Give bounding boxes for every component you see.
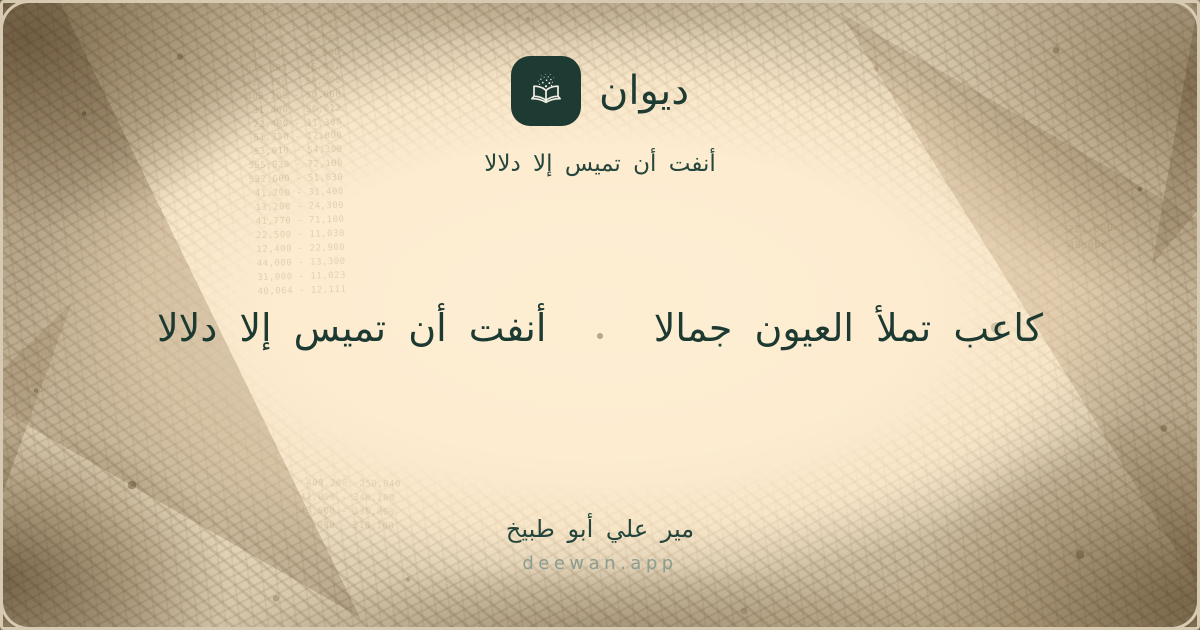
card-subtitle: أنفت أن تميس إلا دلالا — [484, 148, 715, 180]
card-content: ديوان أنفت أن تميس إلا دلالا كاعب تملأ ا… — [0, 0, 1200, 630]
open-book-sparkles-icon — [511, 56, 581, 126]
verse-second-hemistich: كاعب تملأ العيون جمالا — [603, 300, 1087, 357]
site-url: deewan.app — [0, 553, 1200, 574]
share-card: 1,012 - 689,500 40,033 - 504,000 48,900 … — [0, 0, 1200, 630]
dot-separator-icon — [597, 333, 603, 339]
card-footer: مير علي أبو طبيخ deewan.app — [0, 513, 1200, 574]
brand-lockup: ديوان — [511, 56, 689, 126]
poet-name: مير علي أبو طبيخ — [0, 513, 1200, 545]
verse-line: كاعب تملأ العيون جمالا أنفت أن تميس إلا … — [0, 300, 1200, 357]
verse-first-hemistich: أنفت أن تميس إلا دلالا — [113, 300, 597, 357]
brand-name: ديوان — [599, 71, 689, 111]
